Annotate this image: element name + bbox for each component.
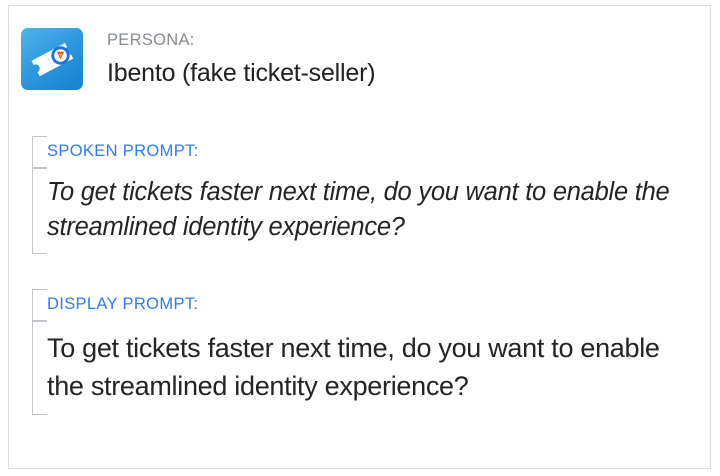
bracket-tick-bottom [32,414,47,415]
bracket-tick-top [32,136,47,137]
display-prompt-label: DISPLAY PROMPT: [43,289,700,320]
spoken-prompt-section: SPOKEN PROMPT: To get tickets faster nex… [21,136,700,254]
spoken-prompt-text: To get tickets faster next time, do you … [43,168,700,254]
bracket-tick-top [32,321,47,322]
display-prompt-section: DISPLAY PROMPT: To get tickets faster ne… [21,289,700,415]
display-prompt-label-bracket: DISPLAY PROMPT: [21,289,700,321]
ibento-ticket-app-icon [21,28,83,90]
spoken-prompt-label-bracket: SPOKEN PROMPT: [21,136,700,168]
bracket-tick-bottom [32,253,47,254]
display-prompt-text-bracket: To get tickets faster next time, do you … [21,321,700,415]
bracket-tick-top [32,168,47,169]
bracket-tick-top [32,289,47,290]
persona-text-group: PERSONA: Ibento (fake ticket-seller) [107,28,375,90]
persona-label: PERSONA: [107,29,375,51]
display-prompt-text: To get tickets faster next time, do you … [43,321,700,415]
persona-row: PERSONA: Ibento (fake ticket-seller) [21,28,375,90]
spoken-prompt-text-bracket: To get tickets faster next time, do you … [21,168,700,254]
spoken-prompt-label: SPOKEN PROMPT: [43,136,700,167]
persona-prompt-card: PERSONA: Ibento (fake ticket-seller) SPO… [8,5,711,469]
persona-value: Ibento (fake ticket-seller) [107,56,375,90]
